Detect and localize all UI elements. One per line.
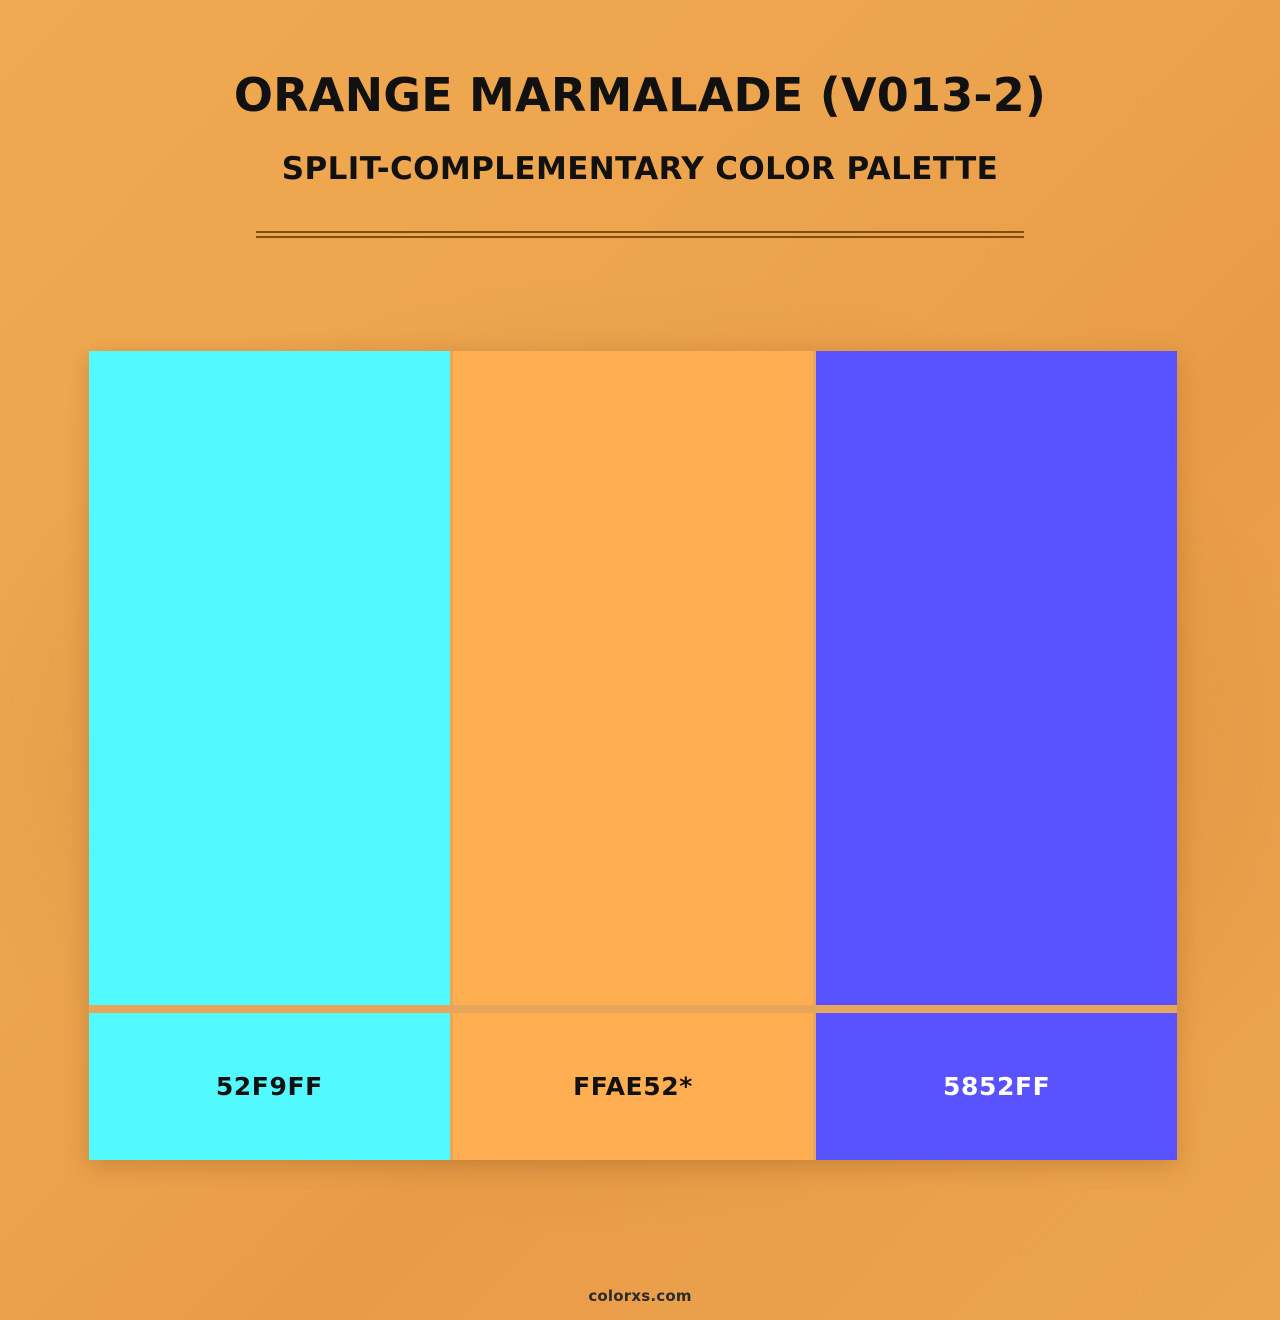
swatch-1-hex-label: 52F9FF — [216, 1074, 323, 1099]
divider-rule-top — [256, 231, 1024, 233]
swatch-3-hex-label: 5852FF — [943, 1074, 1050, 1099]
color-palette: 52F9FF FFAE52* 5852FF — [89, 351, 1177, 1160]
poster-header: ORANGE MARMALADE (V013-2) SPLIT-COMPLEME… — [0, 0, 1280, 185]
swatch-1-labelbox[interactable]: 52F9FF — [89, 1013, 450, 1160]
swatch-3-color[interactable] — [816, 351, 1177, 1005]
swatch-2-hex-label: FFAE52* — [573, 1074, 693, 1099]
site-credit: colorxs.com — [588, 1287, 691, 1305]
swatch-3-labelbox[interactable]: 5852FF — [816, 1013, 1177, 1160]
divider-rule-bottom — [256, 236, 1024, 238]
swatch-1-separator — [89, 1005, 450, 1013]
swatch-3-separator — [816, 1005, 1177, 1013]
page-title: ORANGE MARMALADE (V013-2) — [0, 0, 1280, 118]
poster-footer: colorxs.com — [0, 1286, 1280, 1305]
swatch-2-color[interactable] — [453, 351, 814, 1005]
swatch-1-color[interactable] — [89, 351, 450, 1005]
swatch-2-separator — [453, 1005, 814, 1013]
swatch-2-labelbox[interactable]: FFAE52* — [453, 1013, 814, 1160]
swatch-3[interactable]: 5852FF — [813, 351, 1177, 1160]
palette-poster: ORANGE MARMALADE (V013-2) SPLIT-COMPLEME… — [0, 0, 1280, 1320]
swatch-1[interactable]: 52F9FF — [89, 351, 450, 1160]
page-subtitle: SPLIT-COMPLEMENTARY COLOR PALETTE — [0, 118, 1280, 185]
swatch-2[interactable]: FFAE52* — [450, 351, 814, 1160]
title-divider — [256, 231, 1024, 238]
